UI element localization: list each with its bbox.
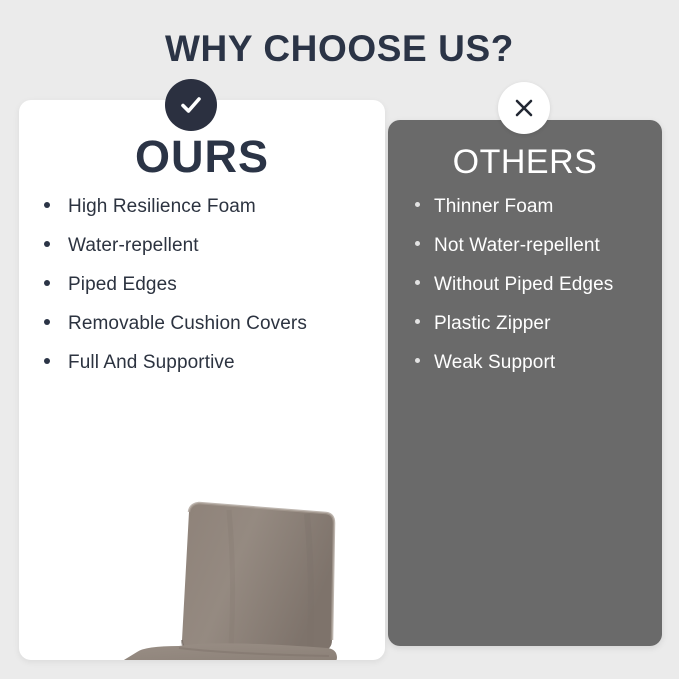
page-title: WHY CHOOSE US? [0,28,679,70]
bullet-icon [44,358,50,364]
ours-heading: OURS [19,131,385,183]
bullet-icon [415,319,420,324]
bullet-icon [415,202,420,207]
bullet-icon [44,241,50,247]
feature-label: Full And Supportive [68,352,235,374]
taupe-chair-cushion-graphic [79,490,344,660]
check-icon [177,91,205,119]
list-item: Thinner Foam [415,196,660,235]
list-item: High Resilience Foam [44,196,374,235]
bullet-icon [44,280,50,286]
feature-label: Thinner Foam [434,196,553,218]
bullet-icon [44,202,50,208]
list-item: Full And Supportive [44,352,374,391]
list-item: Plastic Zipper [415,313,660,352]
others-heading: OTHERS [388,142,662,182]
list-item: Not Water-repellent [415,235,660,274]
list-item: Piped Edges [44,274,374,313]
list-item: Without Piped Edges [415,274,660,313]
bullet-icon [415,358,420,363]
check-badge [165,79,217,131]
list-item: Water-repellent [44,235,374,274]
list-item: Weak Support [415,352,660,391]
others-feature-list: Thinner Foam Not Water-repellent Without… [415,196,660,391]
ours-product-image [79,490,344,660]
cross-badge [498,82,550,134]
bullet-icon [415,241,420,246]
feature-label: Without Piped Edges [434,274,613,296]
bullet-icon [415,280,420,285]
list-item: Removable Cushion Covers [44,313,374,352]
bullet-icon [44,319,50,325]
feature-label: Removable Cushion Covers [68,313,307,335]
feature-label: Water-repellent [68,235,199,257]
feature-label: High Resilience Foam [68,196,256,218]
infographic-root: WHY CHOOSE US? [0,0,679,679]
feature-label: Plastic Zipper [434,313,551,335]
ours-feature-list: High Resilience Foam Water-repellent Pip… [44,196,374,391]
feature-label: Weak Support [434,352,555,374]
feature-label: Not Water-repellent [434,235,600,257]
close-icon [511,95,537,121]
feature-label: Piped Edges [68,274,177,296]
